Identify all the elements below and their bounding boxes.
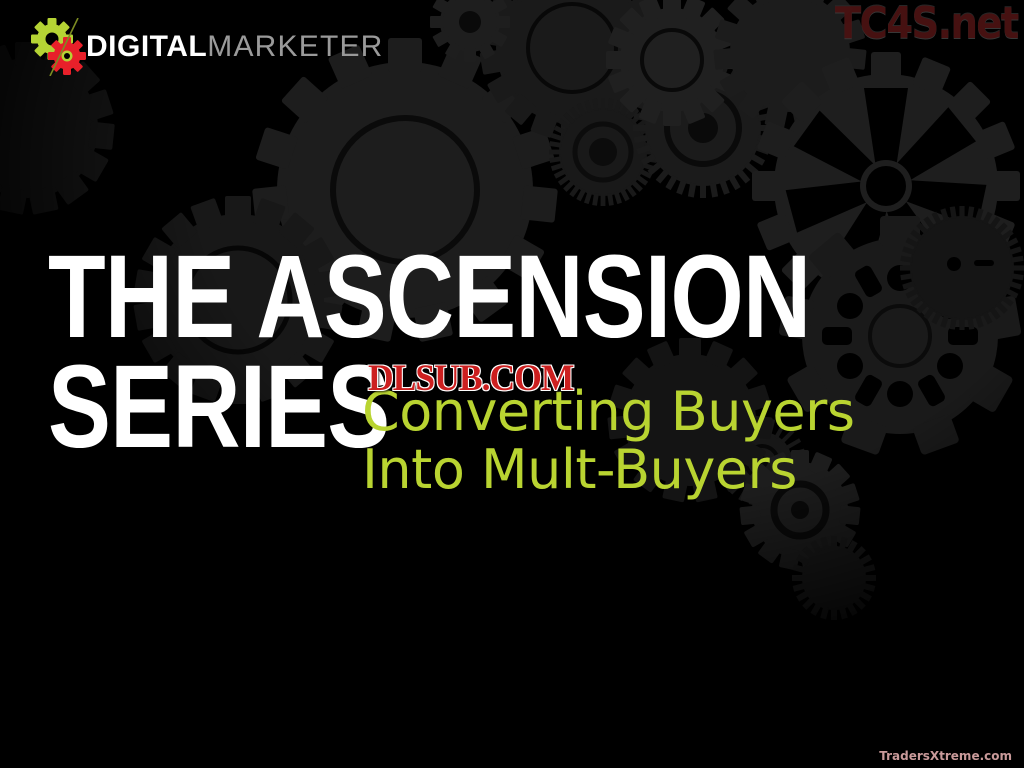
logo-bold-text: DIGITAL bbox=[86, 32, 207, 62]
watermark-tc4s: TC4S.net bbox=[835, 2, 1018, 46]
logo-light-text: MARKETER bbox=[207, 32, 383, 62]
watermark-tradersxtreme: TradersXtreme.com bbox=[879, 750, 1012, 762]
subtitle: Converting Buyers Into Mult-Buyers bbox=[362, 383, 922, 500]
subtitle-line-2: Into Mult-Buyers bbox=[362, 441, 922, 499]
digitalmarketer-logo: DIGITALMARKETER bbox=[28, 18, 384, 76]
watermark-dlsub: DLSUB.COM bbox=[368, 360, 574, 397]
interlocking-gears-icon bbox=[28, 18, 90, 76]
title-line-1: THE ASCENSION bbox=[48, 243, 592, 353]
logo-wordmark: DIGITALMARKETER bbox=[86, 32, 384, 62]
presentation-slide: DIGITALMARKETER THE ASCENSION SERIES Con… bbox=[0, 0, 1024, 768]
